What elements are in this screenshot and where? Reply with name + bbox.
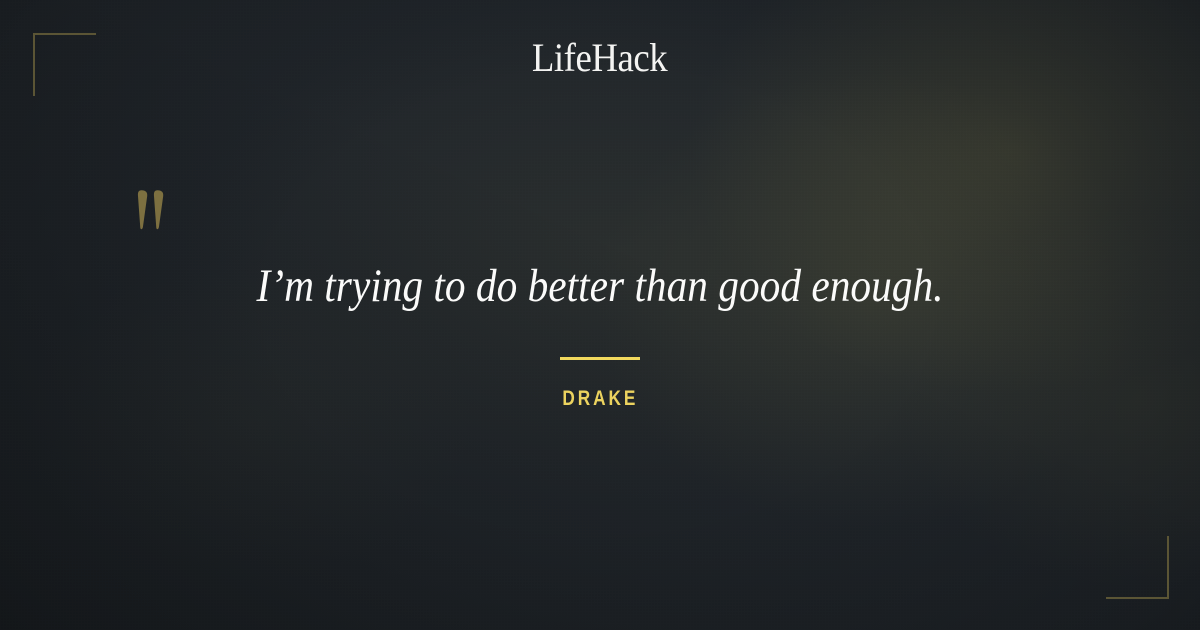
brand-logo-text: LifeHack	[532, 38, 667, 78]
author-block: DRAKE	[0, 388, 1200, 410]
quote-text: I’m trying to do better than good enough…	[160, 258, 1040, 315]
quote-block: I’m trying to do better than good enough…	[100, 258, 1100, 315]
quote-card: LifeHack I’m trying to do better than go…	[0, 0, 1200, 630]
author-name: DRAKE	[562, 388, 638, 409]
author-divider	[560, 357, 640, 360]
quote-mark-icon	[133, 188, 173, 244]
brand-logo: LifeHack	[0, 38, 1200, 78]
